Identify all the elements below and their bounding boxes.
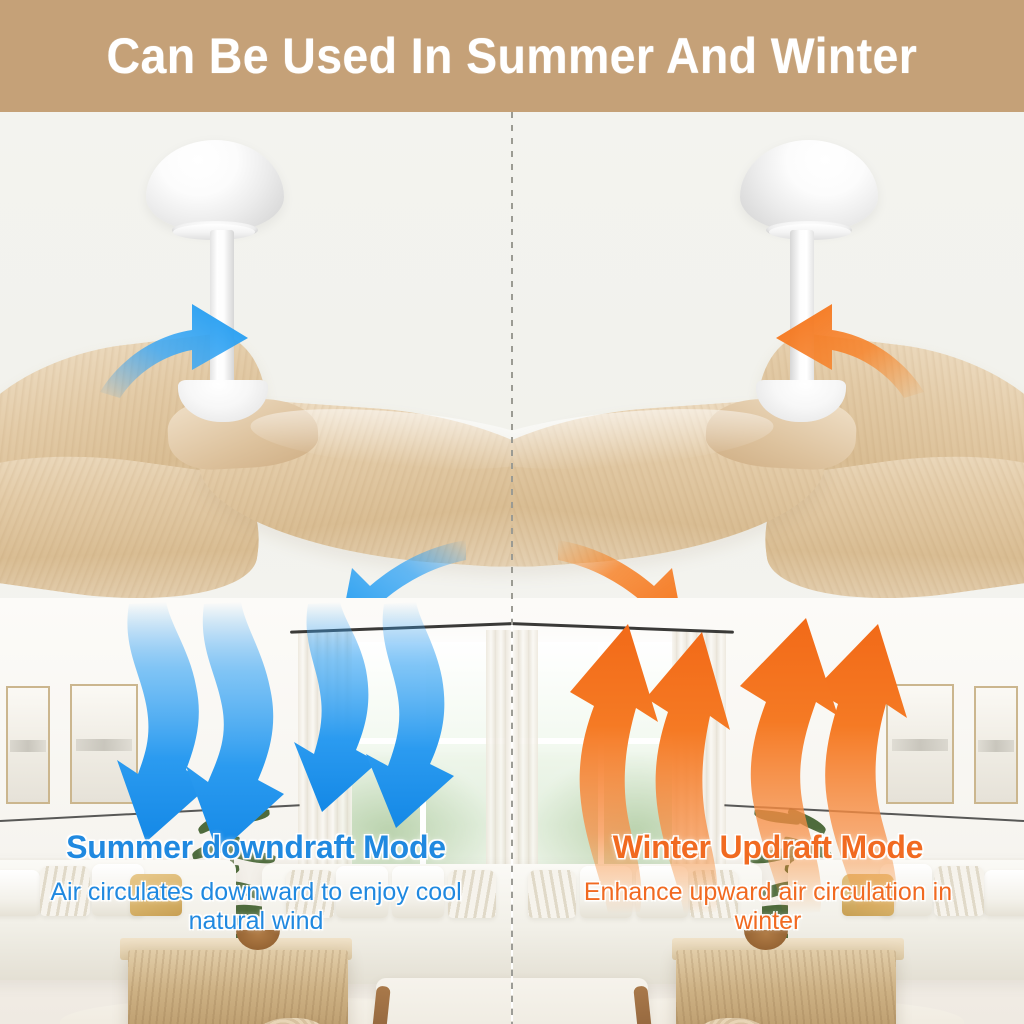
fan-panel-winter bbox=[512, 112, 1024, 612]
summer-mode-caption: Summer downdraft Mode bbox=[0, 830, 512, 865]
winter-mode-subcaption: Enhance upward air circulation in winter bbox=[512, 872, 1024, 935]
winter-mode-description: Enhance upward air circulation in winter bbox=[512, 878, 1024, 935]
ceiling-canopy-icon bbox=[146, 140, 284, 232]
armchair bbox=[512, 978, 648, 1024]
summer-mode-title: Summer downdraft Mode bbox=[0, 830, 512, 865]
window-mullion bbox=[334, 738, 506, 744]
ceiling-canopy-icon bbox=[740, 140, 878, 232]
living-room-image bbox=[512, 598, 1024, 1024]
summer-mode-description: Air circulates downward to enjoy cool na… bbox=[0, 878, 512, 935]
winter-mode-title: Winter Updraft Mode bbox=[512, 830, 1024, 865]
fan-panel-summer bbox=[0, 112, 512, 612]
content-stage: Summer downdraft Mode Air circulates dow… bbox=[0, 112, 1024, 1024]
winter-mode-caption: Winter Updraft Mode bbox=[512, 830, 1024, 865]
framed-wall-art bbox=[886, 684, 954, 804]
framed-wall-art bbox=[974, 686, 1018, 804]
framed-wall-art bbox=[70, 684, 138, 804]
header-banner: Can Be Used In Summer And Winter bbox=[0, 0, 1024, 112]
infographic-page: Can Be Used In Summer And Winter bbox=[0, 0, 1024, 1024]
panel-divider-over-photo bbox=[511, 612, 513, 1024]
curtain-rod bbox=[290, 621, 512, 633]
page-title: Can Be Used In Summer And Winter bbox=[107, 27, 918, 85]
armchair bbox=[376, 978, 512, 1024]
curtain-rod bbox=[512, 621, 734, 633]
framed-wall-art bbox=[6, 686, 50, 804]
downdraft-rod-arrow-icon bbox=[96, 264, 266, 404]
summer-mode-subcaption: Air circulates downward to enjoy cool na… bbox=[0, 872, 512, 935]
wooden-coffee-table bbox=[676, 950, 896, 1024]
room-scene-summer bbox=[0, 598, 512, 1024]
living-room-image bbox=[0, 598, 512, 1024]
room-scene-winter bbox=[512, 598, 1024, 1024]
wooden-coffee-table bbox=[128, 950, 348, 1024]
window-mullion bbox=[518, 738, 690, 744]
updraft-rod-arrow-icon bbox=[758, 264, 928, 404]
